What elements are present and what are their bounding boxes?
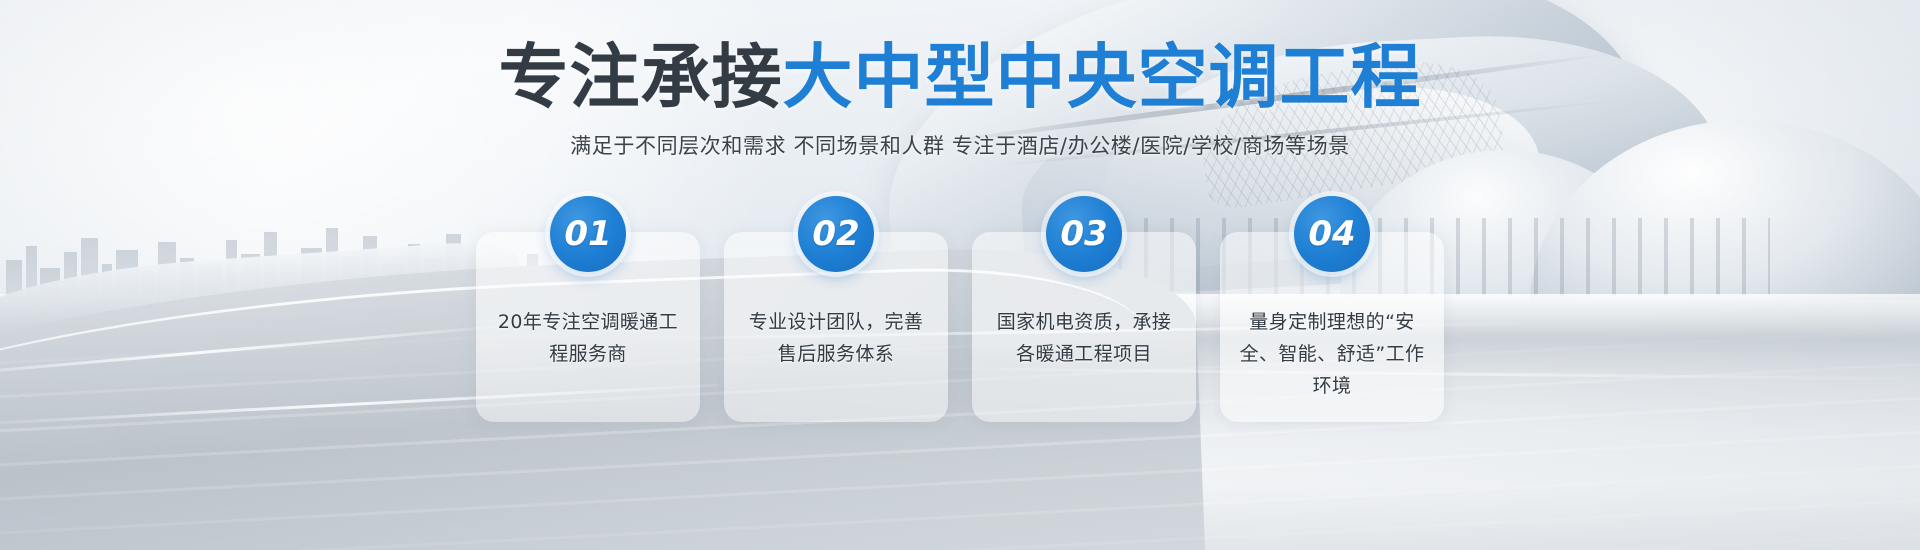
card-number-badge: 04 [1294, 196, 1370, 272]
hero-banner: 专注承接大中型中央空调工程 满足于不同层次和需求 不同场景和人群 专注于酒店/办… [0, 0, 1920, 550]
card-description: 20年专注空调暖通工程服务商 [492, 306, 684, 370]
card-number-badge: 03 [1046, 196, 1122, 272]
page-subtitle: 满足于不同层次和需求 不同场景和人群 专注于酒店/办公楼/医院/学校/商场等场景 [0, 132, 1920, 160]
card-description: 国家机电资质，承接各暖通工程项目 [988, 306, 1180, 370]
card-description: 专业设计团队，完善售后服务体系 [740, 306, 932, 370]
card-number-label: 02 [812, 217, 859, 251]
card-description: 量身定制理想的“安全、智能、舒适”工作环境 [1236, 306, 1428, 402]
card-number-badge: 02 [798, 196, 874, 272]
feature-card[interactable]: 01 20年专注空调暖通工程服务商 [476, 232, 700, 422]
card-number-badge: 01 [550, 196, 626, 272]
feature-card[interactable]: 03 国家机电资质，承接各暖通工程项目 [972, 232, 1196, 422]
title-blue-segment: 大中型中央空调工程 [783, 36, 1422, 118]
feature-card[interactable]: 02 专业设计团队，完善售后服务体系 [724, 232, 948, 422]
card-number-label: 03 [1060, 217, 1107, 251]
page-title: 专注承接大中型中央空调工程 [0, 38, 1920, 116]
feature-card[interactable]: 04 量身定制理想的“安全、智能、舒适”工作环境 [1220, 232, 1444, 422]
title-dark-segment: 专注承接 [499, 36, 783, 118]
headline-block: 专注承接大中型中央空调工程 满足于不同层次和需求 不同场景和人群 专注于酒店/办… [0, 38, 1920, 160]
feature-card-list: 01 20年专注空调暖通工程服务商 02 专业设计团队，完善售后服务体系 03 … [0, 232, 1920, 422]
card-number-label: 01 [564, 217, 611, 251]
card-number-label: 04 [1308, 217, 1355, 251]
